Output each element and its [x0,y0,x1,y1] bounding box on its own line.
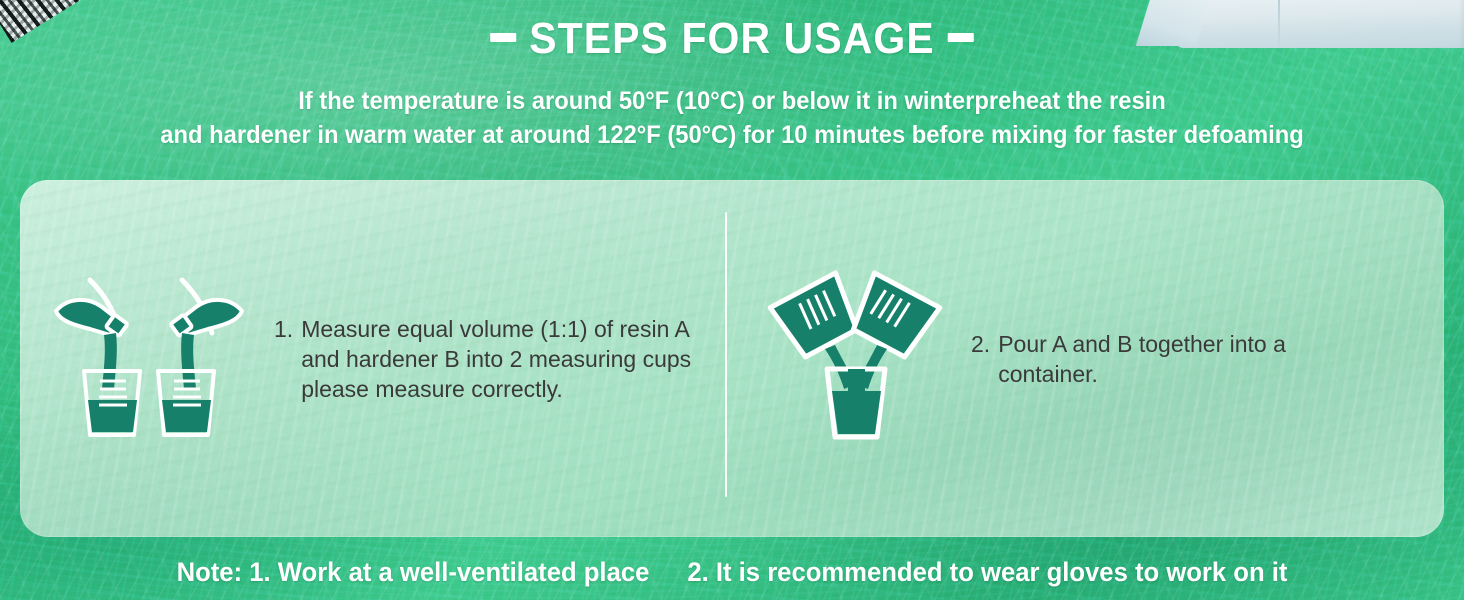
step-2-column: 2. Pour A and B together into a containe… [725,180,1425,537]
step-1-description: Measure equal volume (1:1) of resin A an… [301,314,706,404]
page-title: STEPS FOR USAGE [51,14,1413,64]
subtitle: If the temperature is around 50°F (10°C)… [37,84,1428,152]
step-2-description: Pour A and B together into a container. [998,329,1371,389]
note-bar: Note: 1. Work at a well-ventilated place… [37,557,1428,588]
note-item-1: 1. Work at a well-ventilated place [249,557,649,587]
title-dash-left-icon [490,33,516,42]
step-1-text: 1. Measure equal volume (1:1) of resin A… [274,314,706,404]
subtitle-line-1: If the temperature is around 50°F (10°C)… [37,84,1428,118]
two-bottles-pouring-into-cups-icon [54,269,244,449]
note-label: Note: [177,557,243,587]
step-2-text: 2. Pour A and B together into a containe… [971,329,1371,389]
step-1-number: 1. [274,314,301,404]
page-title-text: STEPS FOR USAGE [529,14,935,63]
steps-panel: 1. Measure equal volume (1:1) of resin A… [20,180,1444,537]
steps-for-usage-banner: STEPS FOR USAGE If the temperature is ar… [0,0,1464,600]
title-dash-right-icon [948,33,974,42]
note-item-2: 2. It is recommended to wear gloves to w… [687,557,1287,588]
step-1-column: 1. Measure equal volume (1:1) of resin A… [20,180,725,537]
step-2-number: 2. [971,329,998,389]
subtitle-line-2: and hardener in warm water at around 122… [37,118,1428,152]
note-group-1: Note: 1. Work at a well-ventilated place [177,557,650,588]
two-cups-pouring-into-container-icon [765,269,945,449]
